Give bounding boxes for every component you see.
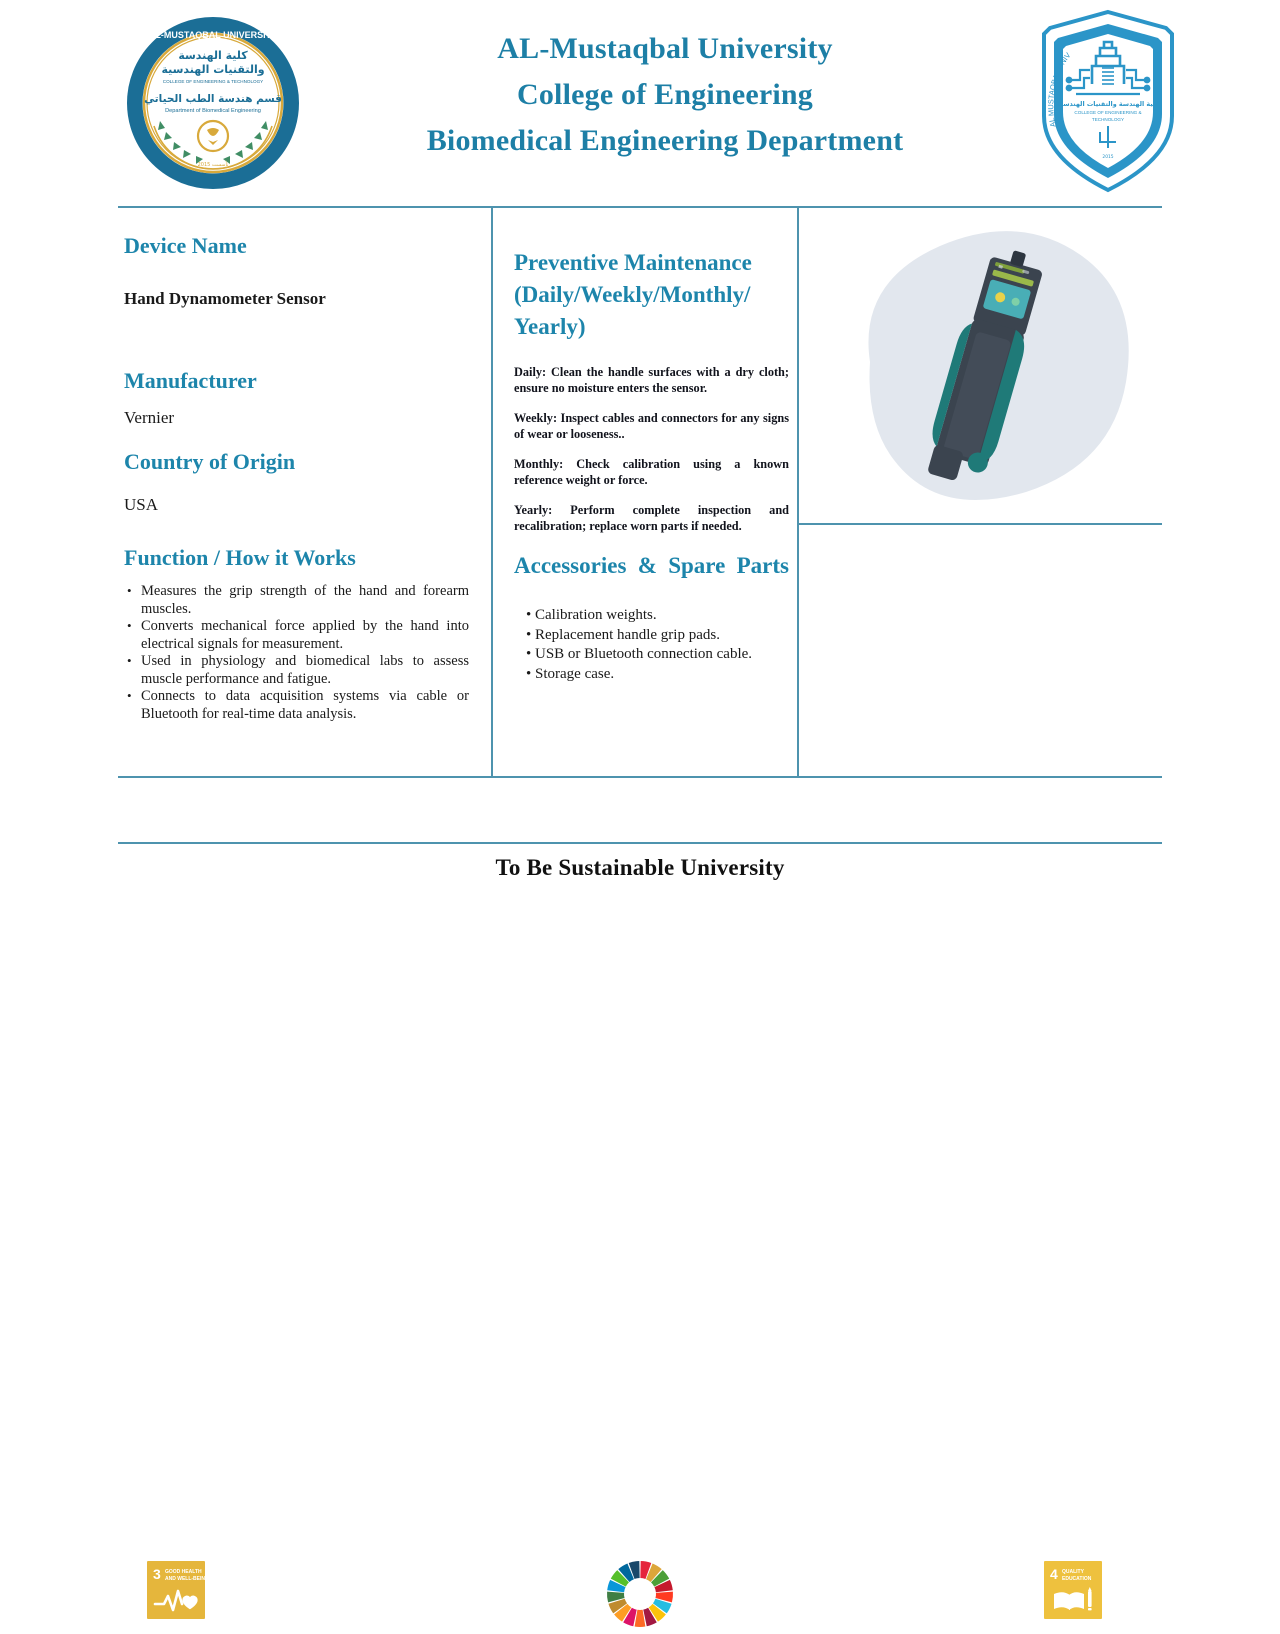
al-mustaqbal-university-seal-icon: AL-MUSTAQBAL UNIVERSITY كلية الهندسة وال…	[124, 14, 302, 192]
seal-arabic-line-1: كلية الهندسة	[178, 49, 248, 62]
list-item: • Replacement handle grip pads.	[526, 626, 789, 646]
function-heading: Function / How it Works	[124, 542, 469, 573]
list-item: Converts mechanical force applied by the…	[124, 618, 469, 653]
sustainability-tagline: To Be Sustainable University	[0, 855, 1280, 881]
column-divider-right	[797, 207, 799, 777]
column-divider-left	[491, 207, 493, 777]
sdg-3-number: 3	[153, 1566, 161, 1582]
header-bottom-rule	[118, 206, 1162, 208]
seal-arabic-line-3: قسم هندسة الطب الحياتي	[144, 93, 282, 105]
shield-arabic-title: كلية الهندسة والتقنيات الهندسية	[1057, 100, 1160, 108]
list-item: Connects to data acquisition systems via…	[124, 688, 469, 723]
sdg-4-title-line-2: EDUCATION	[1062, 1576, 1092, 1582]
college-shield-emblem-icon: كلية الهندسة والتقنيات الهندسية COLLEGE …	[1032, 8, 1184, 194]
country-of-origin-value: USA	[124, 494, 469, 516]
list-item: Measures the grip strength of the hand a…	[124, 583, 469, 618]
list-item: • Storage case.	[526, 665, 789, 685]
sdg-wheel-segment	[635, 1610, 646, 1627]
country-of-origin-heading: Country of Origin	[124, 446, 469, 477]
shield-english-title-2: TECHNOLOGY	[1092, 117, 1124, 122]
poster-header: AL-MUSTAQBAL UNIVERSITY كلية الهندسة وال…	[0, 0, 1280, 200]
footer-sdg-band: 3 GOOD HEALTH AND WELL-BEING 4 QUALITY E…	[0, 777, 1280, 843]
accessories-list: • Calibration weights. • Replacement han…	[514, 606, 789, 684]
sdg-3-good-health-icon: 3 GOOD HEALTH AND WELL-BEING	[147, 1561, 205, 1624]
accessories-heading: Accessories & Spare Parts	[514, 550, 789, 582]
middle-column: Preventive Maintenance (Daily/Weekly/Mon…	[514, 230, 789, 684]
right-column-divider-rule	[797, 523, 1162, 525]
device-name-value: Hand Dynamometer Sensor	[124, 288, 469, 310]
sdg-3-title-line-2: AND WELL-BEING	[165, 1576, 205, 1582]
list-item: • Calibration weights.	[526, 606, 789, 626]
manufacturer-heading: Manufacturer	[124, 365, 469, 396]
sdg-3-title-line-1: GOOD HEALTH	[165, 1569, 202, 1575]
list-item: Daily: Clean the handle surfaces with a …	[514, 365, 789, 396]
svg-text:تأسست 2015: تأسست 2015	[198, 160, 229, 168]
header-title-block: AL-Mustaqbal University College of Engin…	[330, 26, 1000, 164]
sdg-4-title-line-1: QUALITY	[1062, 1569, 1085, 1575]
left-column: Device Name Hand Dynamometer Sensor Manu…	[124, 230, 469, 723]
poster-root: AL-MUSTAQBAL UNIVERSITY كلية الهندسة وال…	[0, 0, 1280, 904]
sdg-4-number: 4	[1050, 1566, 1058, 1582]
svg-text:2015: 2015	[1102, 154, 1113, 160]
device-name-heading: Device Name	[124, 230, 469, 261]
seal-ring-text: AL-MUSTAQBAL UNIVERSITY	[149, 30, 277, 40]
seal-arabic-line-2: والتقنيات الهندسية	[161, 63, 264, 76]
list-item: Yearly: Perform complete inspection and …	[514, 503, 789, 534]
seal-english-line-2: Department of Biomedical Engineering	[165, 108, 261, 114]
sdg-4-quality-education-icon: 4 QUALITY EDUCATION	[1044, 1561, 1102, 1624]
list-item: Weekly: Inspect cables and connectors fo…	[514, 411, 789, 442]
list-item: Monthly: Check calibration using a known…	[514, 457, 789, 488]
header-title-line-1: AL-Mustaqbal University	[330, 26, 1000, 72]
function-bullet-list: Measures the grip strength of the hand a…	[124, 583, 469, 723]
manufacturer-value: Vernier	[124, 407, 469, 429]
hand-dynamometer-photo	[810, 212, 1170, 512]
header-title-line-3: Biomedical Engineering Department	[330, 118, 1000, 164]
shield-english-title-1: COLLEGE OF ENGINEERING &	[1074, 110, 1141, 115]
sdg-color-wheel-icon	[605, 1559, 675, 1634]
seal-english-line-1: COLLEGE OF ENGINEERING & TECHNOLOGY	[163, 79, 264, 84]
maintenance-schedule-list: Daily: Clean the handle surfaces with a …	[514, 365, 789, 534]
right-column	[810, 212, 1170, 522]
preventive-maintenance-heading: Preventive Maintenance (Daily/Weekly/Mon…	[514, 247, 789, 343]
header-title-line-2: College of Engineering	[330, 72, 1000, 118]
list-item: Used in physiology and biomedical labs t…	[124, 653, 469, 688]
list-item: • USB or Bluetooth connection cable.	[526, 645, 789, 665]
